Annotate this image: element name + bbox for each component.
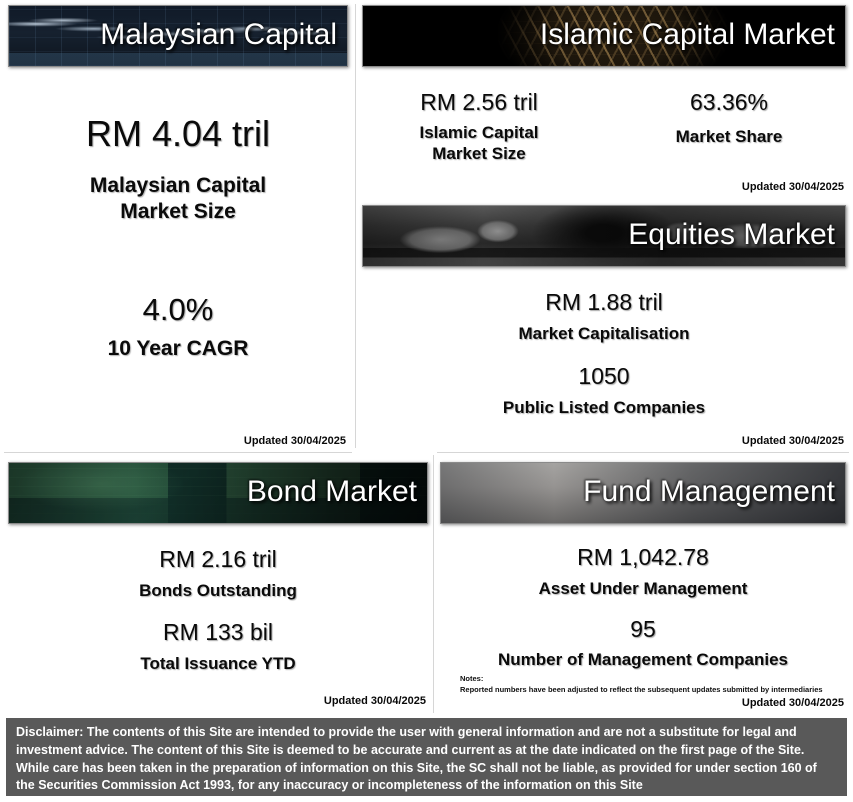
notes-body: Reported numbers have been adjusted to r… [460,685,842,694]
stat-value-market-capitalisation: RM 1.88 tril [362,289,846,316]
divider-vertical-top [355,4,356,448]
stat-value-malaysian-market-size: RM 4.04 tril [8,113,348,155]
updated-timestamp-equities-market: Updated 30/04/2025 [742,435,844,447]
banner-title-islamic-capital-market: Islamic Capital Market [540,18,845,54]
stats-row-islamic: RM 2.56 tril Islamic Capital Market Size… [362,89,846,164]
card-bond-market: Bond Market RM 2.16 tril Bonds Outstandi… [8,462,428,710]
banner-title-equities-market: Equities Market [628,218,845,254]
banner-equities-market: Equities Market [362,205,846,267]
stat-label-market-share: Market Share [612,127,846,148]
stat-value-bonds-outstanding: RM 2.16 tril [8,546,428,573]
stat-label-cagr: 10 Year CAGR [8,336,348,362]
updated-timestamp-malaysian-capital: Updated 30/04/2025 [244,435,346,447]
card-equities-market: Equities Market RM 1.88 tril Market Capi… [362,205,846,450]
banner-title-bond-market: Bond Market [247,475,427,511]
stat-value-islamic-market-size: RM 2.56 tril [362,89,596,116]
stat-value-total-issuance-ytd: RM 133 bil [8,619,428,646]
stat-value-cagr: 4.0% [8,292,348,328]
card-islamic-capital-market: Islamic Capital Market RM 2.56 tril Isla… [362,5,846,195]
notes-block: Notes: Reported numbers have been adjust… [460,674,842,694]
stat-label-islamic-market-size: Islamic Capital Market Size [362,123,596,164]
updated-timestamp-islamic-capital-market: Updated 30/04/2025 [742,181,844,193]
divider-horizontal-right [437,452,849,453]
stat-label-asset-under-management: Asset Under Management [440,579,846,600]
disclaimer-text: Disclaimer: The contents of this Site ar… [16,725,817,792]
notes-title: Notes: [460,674,842,683]
card-fund-management: Fund Management RM 1,042.78 Asset Under … [440,462,846,710]
stat-label-bonds-outstanding: Bonds Outstanding [8,581,428,602]
stat-block-market-share: 63.36% Market Share [604,89,846,164]
dashboard: Malaysian Capital RM 4.04 tril Malaysian… [0,0,853,716]
banner-title-malaysian-capital: Malaysian Capital [100,18,347,54]
updated-timestamp-bond-market: Updated 30/04/2025 [324,695,426,707]
banner-islamic-capital-market: Islamic Capital Market [362,5,846,67]
disclaimer-banner: Disclaimer: The contents of this Site ar… [6,718,847,796]
stat-value-asset-under-management: RM 1,042.78 [440,544,846,571]
banner-title-fund-management: Fund Management [583,475,845,511]
banner-fund-management: Fund Management [440,462,846,524]
updated-timestamp-fund-management: Updated 30/04/2025 [742,697,844,709]
card-malaysian-capital: Malaysian Capital RM 4.04 tril Malaysian… [8,5,348,450]
banner-bond-market: Bond Market [8,462,428,524]
stat-label-public-listed-companies: Public Listed Companies [362,398,846,419]
stat-label-number-of-management-companies: Number of Management Companies [440,650,846,671]
stat-block-islamic-market-size: RM 2.56 tril Islamic Capital Market Size [362,89,604,164]
stat-value-market-share: 63.36% [612,89,846,116]
stat-label-total-issuance-ytd: Total Issuance YTD [8,654,428,675]
stat-label-malaysian-market-size: Malaysian Capital Market Size [8,173,348,224]
stat-value-number-of-management-companies: 95 [440,616,846,643]
stat-label-market-capitalisation: Market Capitalisation [362,324,846,345]
divider-vertical-bottom [433,455,434,713]
stat-value-public-listed-companies: 1050 [362,363,846,390]
banner-malaysian-capital: Malaysian Capital [8,5,348,67]
divider-horizontal-left [4,452,352,453]
